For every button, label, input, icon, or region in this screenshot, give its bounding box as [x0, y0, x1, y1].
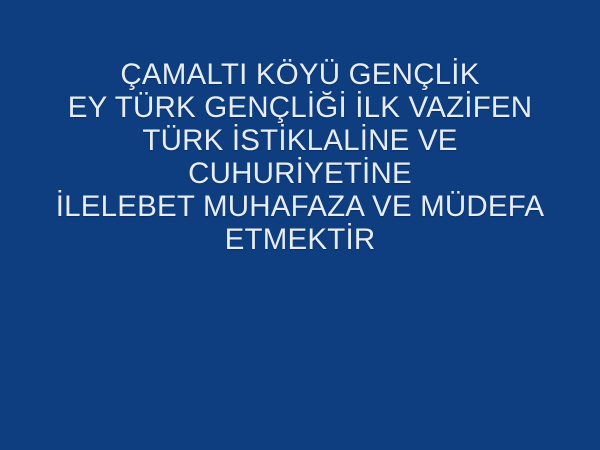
slide-text-line-2: EY TÜRK GENÇLİĞİ İLK VAZİFEN — [8, 91, 592, 124]
slide-text-line-4: CUHURİYETİNE — [8, 157, 592, 190]
slide-text-line-5: İLELEBET MUHAFAZA VE MÜDEFA — [8, 190, 592, 223]
slide-text-line-6: ETMEKTİR — [8, 223, 592, 256]
slide-text-block: ÇAMALTI KÖYÜ GENÇLİK EY TÜRK GENÇLİĞİ İL… — [0, 58, 600, 256]
slide-text-line-1: ÇAMALTI KÖYÜ GENÇLİK — [8, 58, 592, 91]
slide-canvas: ÇAMALTI KÖYÜ GENÇLİK EY TÜRK GENÇLİĞİ İL… — [0, 0, 600, 450]
slide-text-line-3: TÜRK İSTİKLALİNE VE — [8, 124, 592, 157]
